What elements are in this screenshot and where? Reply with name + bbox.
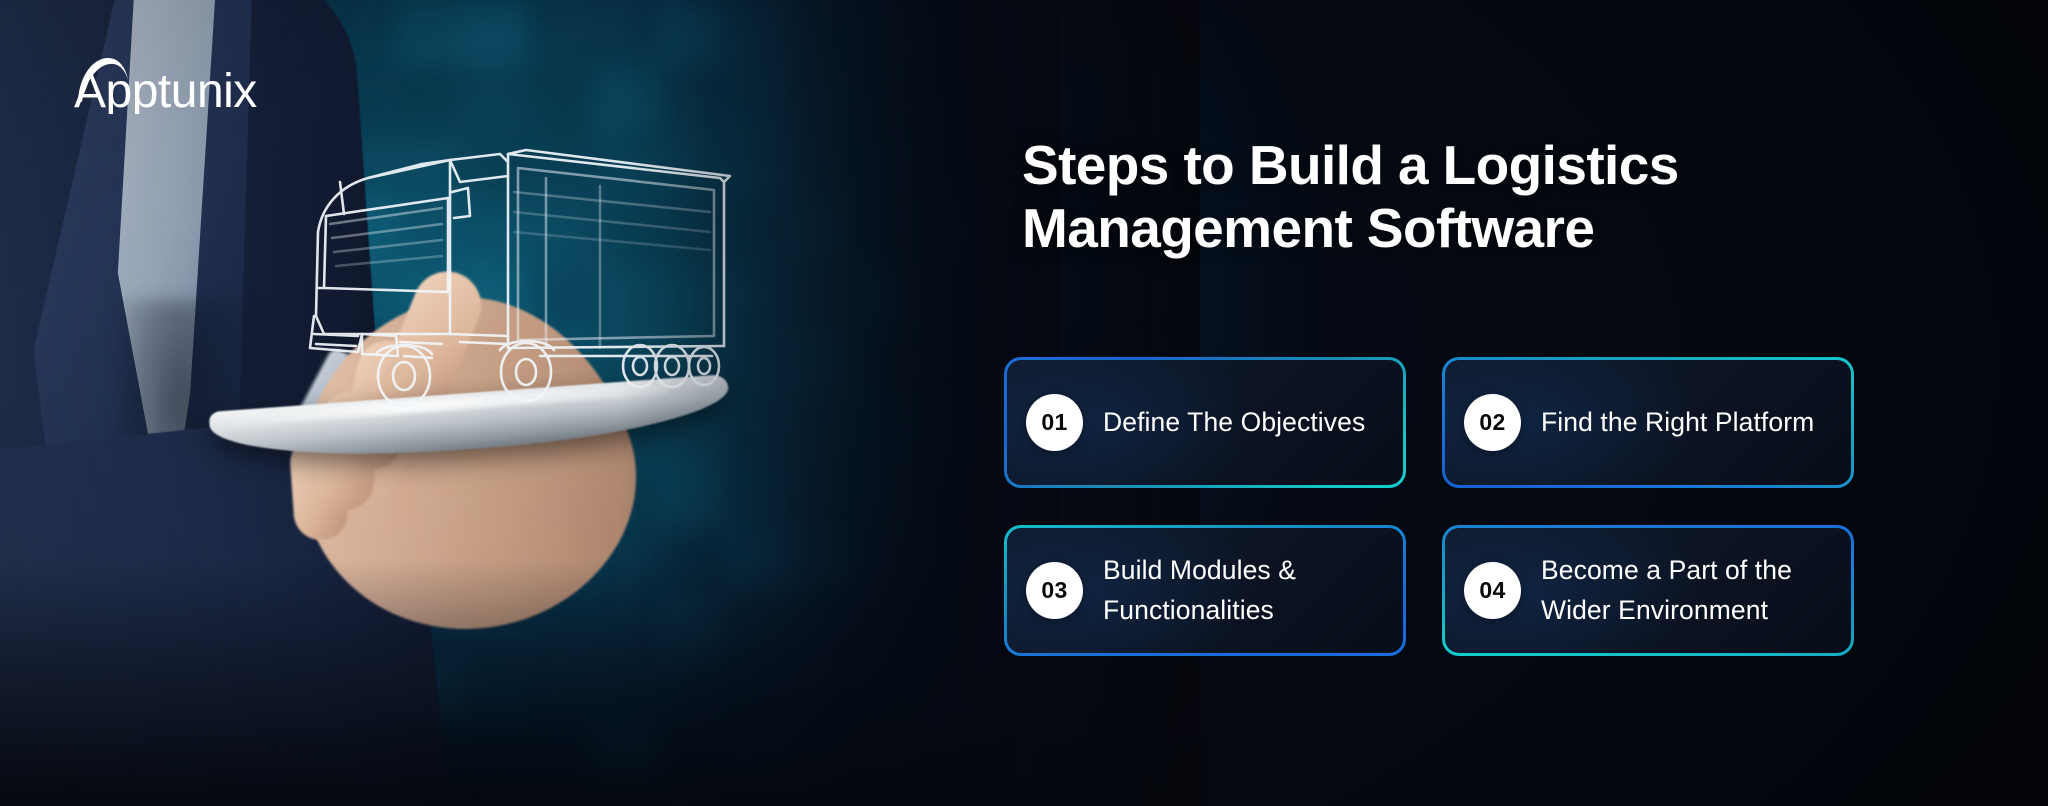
step-label: Define The Objectives (1103, 403, 1377, 442)
step-card-04-inner: 04 Become a Part of the Wider Environmen… (1445, 528, 1851, 653)
step-card-01[interactable]: 01 Define The Objectives (1004, 357, 1406, 488)
step-label: Find the Right Platform (1541, 403, 1826, 442)
steps-grid: 01 Define The Objectives 02 Find the Rig… (1004, 357, 1904, 656)
step-label: Become a Part of the Wider Environment (1541, 551, 1851, 629)
logistics-steps-banner: Apptunix Steps to Build a Logistics Mana… (0, 0, 2048, 806)
step-number-badge: 04 (1464, 562, 1521, 619)
step-card-03-inner: 03 Build Modules & Functionalities (1007, 528, 1403, 653)
step-card-02-inner: 02 Find the Right Platform (1445, 360, 1851, 485)
photo-fade-bottom (0, 560, 1010, 806)
step-number-badge: 01 (1026, 394, 1083, 451)
step-card-02[interactable]: 02 Find the Right Platform (1442, 357, 1854, 488)
step-card-03[interactable]: 03 Build Modules & Functionalities (1004, 525, 1406, 656)
step-number-badge: 02 (1464, 394, 1521, 451)
step-card-04[interactable]: 04 Become a Part of the Wider Environmen… (1442, 525, 1854, 656)
apptunix-logo[interactable]: Apptunix (70, 52, 275, 114)
apptunix-arc-icon: Apptunix (70, 52, 275, 114)
step-label: Build Modules & Functionalities (1103, 551, 1403, 629)
step-number-badge: 03 (1026, 562, 1083, 619)
page-title-line-2: Management Software (1022, 197, 1842, 260)
svg-text:Apptunix: Apptunix (74, 65, 257, 114)
hero-photo (0, 0, 1010, 806)
page-title: Steps to Build a Logistics Management So… (1022, 134, 1842, 259)
page-title-line-1: Steps to Build a Logistics (1022, 134, 1842, 197)
step-card-01-inner: 01 Define The Objectives (1007, 360, 1403, 485)
